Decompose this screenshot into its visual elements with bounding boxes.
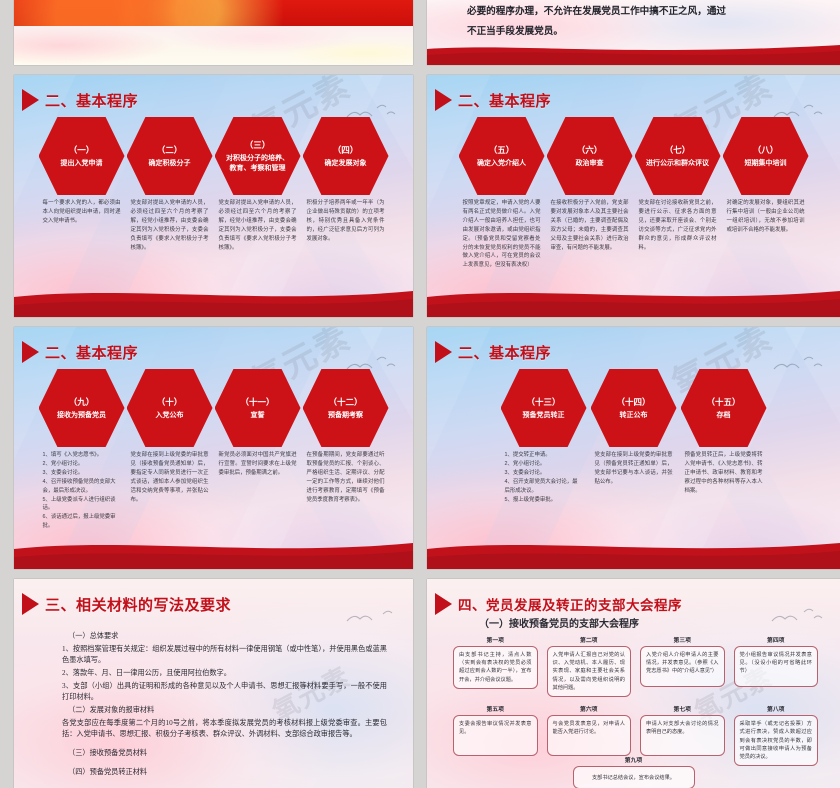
hex-step-body: 党支部在讨论接收新党员之前，要进行公示、征求各方面的意见，还要采取开座谈会、个别…: [635, 195, 721, 252]
hex-badge: （十二） 预备期考察: [303, 369, 389, 447]
hex-badge: （二） 确定积极分子: [127, 117, 213, 195]
footer-red-wave: [427, 287, 840, 317]
card-body: 与会党员发表意见，对申请人能否入党进行讨论。: [547, 715, 632, 756]
hex-step-body: 按照党章规定，申请入党的人要有两名正式党员做介绍人。入党介绍人一般由培养人担任，…: [459, 195, 545, 270]
hex-badge: （三） 对积极分子的培养、教育、考察和管理: [215, 117, 301, 195]
card-body: 党小组报告审议情况并发表意见。（没设小组的可省略此环节）: [734, 646, 819, 687]
card-cell[interactable]: 第二项 入党申请人汇报自己对党的认识、入党动机、本人履历、现实表现、家庭和主要社…: [547, 635, 632, 697]
slide-title: 三、相关材料的写法及要求: [45, 594, 231, 615]
hex-step-body: 新党员必须面对中国共产党旗进行宣誓。宣誓时间要求在上级党委审批后，预备期满之前。: [215, 447, 301, 478]
arrow-icon: [22, 593, 39, 615]
card-cell[interactable]: 第四项 党小组报告审议情况并发表意见。（没设小组的可省略此环节）: [734, 635, 819, 697]
hex-flow-row: （一） 提出入党申请 每一个要求入党的人，都必须由本人向党组织提出申请，同时递交…: [14, 117, 413, 252]
doc-line: （二）发展对象的报审材料: [62, 705, 387, 717]
hex-badge: （十） 入党公布: [127, 369, 213, 447]
continuation-text: 必要的程序办理，不允许在发展党员工作中搞不正之风，通过 不正当手段发展党员。: [467, 2, 806, 41]
hex-step-body: 党支部在接到上级党委的审批意见（接收预备党员通知单）后，要指定专人同新党员进行一…: [127, 447, 213, 504]
hex-step[interactable]: （十三） 预备党员转正 1、提交转正申请。 2、党小组讨论。 3、支委会讨论。 …: [501, 369, 587, 504]
card-label: 第四项: [734, 635, 819, 644]
hex-step-body: 积极分子培养两年或一年半（为企业做出特殊贡献的）的立项考核，特别优秀且具备入党条…: [303, 195, 389, 244]
slide-title: 二、基本程序: [458, 342, 551, 363]
hex-step[interactable]: （十五） 存档 预备党员转正后，上级党委将转入党申请书、《入党志愿书》、转正申请…: [681, 369, 767, 504]
hex-step[interactable]: （十一） 宣誓 新党员必须面对中国共产党旗进行宣誓。宣誓时间要求在上级党委审批后…: [215, 369, 301, 531]
footer-red-wave: [14, 287, 413, 317]
card-body: 入党申请人汇报自己对党的认识、入党动机、本人履历、现实表现、家庭和主要社会关系情…: [547, 646, 632, 697]
card-label: 第一项: [453, 635, 538, 644]
slide-header: 二、基本程序: [427, 341, 551, 363]
hex-badge: （六） 政治审查: [547, 117, 633, 195]
birds-icon: [770, 605, 826, 631]
card-cell[interactable]: 第一项 由支部书记主持，清点人数（实到会有表决权的党员必须超过应到会人数的一半）…: [453, 635, 538, 697]
hex-step-body: 对确定的发展对象，要组织其进行集中培训（一般由企业公司统一组织培训），无故不参加…: [723, 195, 809, 235]
slide-thumbnail-procedure-1[interactable]: 氧元素 二、基本程序 （一） 提出入党申请 每一个要求入党的人，都必须由本人向党…: [14, 75, 413, 317]
arrow-icon: [22, 341, 39, 363]
hex-step[interactable]: （四） 确定发展对象 积极分子培养两年或一年半（为企业做出特殊贡献的）的立项考核…: [303, 117, 389, 252]
hex-step-body: 党支部对提出入党申请的人员，必须经过四至六个月的考察了解，经党小组推荐，由支委会…: [215, 195, 301, 252]
hex-badge: （十三） 预备党员转正: [501, 369, 587, 447]
hex-step[interactable]: （五） 确定入党介绍人 按照党章规定，申请入党的人要有两名正式党员做介绍人。入党…: [459, 117, 545, 270]
slide-header: 二、基本程序: [427, 89, 551, 111]
slide-thumbnail-branch-meeting[interactable]: 氧元素 四、党员发展及转正的支部大会程序 （一）接收预备党员的支部大会程序 第一…: [427, 579, 840, 788]
slide-thumbnail-text-continuation[interactable]: 必要的程序办理，不允许在发展党员工作中搞不正之风，通过 不正当手段发展党员。: [427, 0, 840, 65]
hex-badge: （七） 进行公示和群众评议: [635, 117, 721, 195]
arrow-icon: [435, 341, 452, 363]
hex-badge: （四） 确定发展对象: [303, 117, 389, 195]
slide-header: 四、党员发展及转正的支部大会程序: [427, 593, 682, 615]
slide-thumbnail-procedure-4[interactable]: 氧元素 二、基本程序 （十三） 预备党员转正 1、提交转正申请。 2、党小组讨论…: [427, 327, 840, 569]
card-label: 第五项: [453, 704, 538, 713]
footer-red-wave: [14, 539, 413, 569]
hex-step[interactable]: （六） 政治审查 在接收积极分子入党前，党支部要对发展对象本人及其主要社会关系（…: [547, 117, 633, 270]
slide-title: 二、基本程序: [45, 90, 138, 111]
hex-step[interactable]: （七） 进行公示和群众评议 党支部在讨论接收新党员之前，要进行公示、征求各方面的…: [635, 117, 721, 270]
hex-step[interactable]: （一） 提出入党申请 每一个要求入党的人，都必须由本人向党组织提出申请，同时递交…: [39, 117, 125, 252]
doc-line: 各党支部应在每季度第二个月的10号之前，将本季度拟发展党员的考核材料报上级党委审…: [62, 718, 387, 741]
birds-icon: [343, 605, 399, 631]
slide-thumbnail-materials[interactable]: 氧元素 三、相关材料的写法及要求 （一）总体要求 1、按照档案管理有关规定：组织…: [14, 579, 413, 788]
footer-red-wave: [427, 539, 840, 569]
doc-line: （三）接收预备党员材料: [62, 748, 387, 760]
slide-header: 二、基本程序: [14, 89, 138, 111]
doc-line: （四）预备党员转正材料: [62, 767, 387, 779]
slide-title: 四、党员发展及转正的支部大会程序: [458, 594, 682, 614]
hex-step-body: 党支部对提出入党申请的人员，必须经过四至六个月的考察了解，经党小组推荐，由支委会…: [127, 195, 213, 252]
card-body: 入党介绍人介绍申请人的主要情况，并发表意见。（参照《入党志愿书》中的"介绍人意见…: [640, 646, 725, 687]
hex-step[interactable]: （十四） 转正公布 党支部在接到上级党委的审批意见（预备党员转正通知单）后，党支…: [591, 369, 677, 504]
hex-step[interactable]: （三） 对积极分子的培养、教育、考察和管理 党支部对提出入党申请的人员，必须经过…: [215, 117, 301, 252]
hex-flow-row: （十三） 预备党员转正 1、提交转正申请。 2、党小组讨论。 3、支委会讨论。 …: [427, 369, 840, 504]
doc-line: 2、落款年、月、日一律用公历，且使用阿拉伯数字。: [62, 668, 387, 680]
card-body[interactable]: 支部书记总结会议，宣布会议结果。: [573, 766, 695, 788]
hex-step-body: 预备党员转正后，上级党委将转入党申请书、《入党志愿书》、转正申请书、政审材料、教…: [681, 447, 767, 496]
card-label: 第七项: [640, 704, 725, 713]
card-body: 申请人对支部大会讨论的情况表明自己的态度。: [640, 715, 725, 756]
slide-thumbnail-grid: 必要的程序办理，不允许在发展党员工作中搞不正之风，通过 不正当手段发展党员。 氧…: [0, 0, 840, 788]
card-label: 第六项: [547, 704, 632, 713]
hex-step[interactable]: （八） 短期集中培训 对确定的发展对象，要组织其进行集中培训（一般由企业公司统一…: [723, 117, 809, 270]
card-label: 第三项: [640, 635, 725, 644]
footer-red-bar: [427, 43, 840, 65]
hex-step-body: 在接收积极分子入党前，党支部要对发展对象本人及其主要社会关系（已婚的，主要调查配…: [547, 195, 633, 252]
arrow-icon: [435, 89, 452, 111]
hex-badge: （十一） 宣誓: [215, 369, 301, 447]
hex-badge: （十四） 转正公布: [591, 369, 677, 447]
doc-line: 1、按照档案管理有关规定：组织发展过程中的所有材料一律使用钢笔（或中性笔），并使…: [62, 644, 387, 667]
card-label: 第八项: [734, 704, 819, 713]
hex-step-body: 每一个要求入党的人，都必须由本人向党组织提出申请，同时递交入党申请书。: [39, 195, 125, 226]
hex-badge: （九） 接收为预备党员: [39, 369, 125, 447]
hex-badge: （十五） 存档: [681, 369, 767, 447]
hex-badge: （五） 确定入党介绍人: [459, 117, 545, 195]
slide-thumbnail-procedure-2[interactable]: 氧元素 二、基本程序 （五） 确定入党介绍人 按照党章规定，申请入党的人要有两名…: [427, 75, 840, 317]
hex-step-body: 党支部在接到上级党委的审批意见（预备党员转正通知单）后，党支部书记要与本人谈话，…: [591, 447, 677, 487]
arrow-icon: [435, 593, 452, 615]
card-body: 支委会报告审议情况并发表意见。: [453, 715, 538, 756]
hex-step-body: 在预备期期间，党支部要通过听取预备党员的汇报、个别谈心、严格组织生活、定期评议、…: [303, 447, 389, 504]
hex-flow-row: （五） 确定入党介绍人 按照党章规定，申请入党的人要有两名正式党员做介绍人。入党…: [427, 117, 840, 270]
hex-step[interactable]: （九） 接收为预备党员 1、填写《入党志愿书》。 2、党小组讨论。 3、支委会讨…: [39, 369, 125, 531]
slide-subtitle: （一）接收预备党员的支部大会程序: [479, 615, 639, 630]
slide-title: 二、基本程序: [45, 342, 138, 363]
slide-header: 三、相关材料的写法及要求: [14, 593, 231, 615]
card-cell[interactable]: 第三项 入党介绍人介绍申请人的主要情况，并发表意见。（参照《入党志愿书》中的"介…: [640, 635, 725, 697]
slide-title: 二、基本程序: [458, 90, 551, 111]
hex-badge: （八） 短期集中培训: [723, 117, 809, 195]
hex-step-body: 1、填写《入党志愿书》。 2、党小组讨论。 3、支委会讨论。 4、召开接收预备党…: [39, 447, 125, 531]
hex-flow-row: （九） 接收为预备党员 1、填写《入党志愿书》。 2、党小组讨论。 3、支委会讨…: [14, 369, 413, 531]
doc-line: 3、支部（小组）出具的证明和形成的各种意见以及个人申请书、思想汇报等材料要手写，…: [62, 681, 387, 704]
card-body: 由支部书记主持，清点人数（实到会有表决权的党员必须超过应到会人数的一半），宣布开…: [453, 646, 538, 689]
doc-line: （一）总体要求: [62, 631, 387, 643]
materials-document: （一）总体要求 1、按照档案管理有关规定：组织发展过程中的所有材料一律使用钢笔（…: [62, 631, 387, 779]
final-card-wrapper: 第九项 支部书记总结会议，宣布会议结果。: [427, 755, 840, 788]
slide-thumbnail-procedure-3[interactable]: 氧元素 二、基本程序 （九） 接收为预备党员 1、填写《入党志愿书》。 2、党小…: [14, 327, 413, 569]
hex-step[interactable]: （二） 确定积极分子 党支部对提出入党申请的人员，必须经过四至六个月的考察了解，…: [127, 117, 213, 252]
slide-background: [14, 0, 413, 65]
hex-step[interactable]: （十二） 预备期考察 在预备期期间，党支部要通过听取预备党员的汇报、个别谈心、严…: [303, 369, 389, 531]
arrow-icon: [22, 89, 39, 111]
slide-thumbnail-cover-fragment[interactable]: [14, 0, 413, 65]
slide-header: 二、基本程序: [14, 341, 138, 363]
procedure-card-grid: 第一项 由支部书记主持，清点人数（实到会有表决权的党员必须超过应到会人数的一半）…: [453, 635, 818, 766]
hex-badge: （一） 提出入党申请: [39, 117, 125, 195]
card-label: 第九项: [625, 755, 642, 764]
hex-step-body: 1、提交转正申请。 2、党小组讨论。 3、支委会讨论。 4、召开支部党员大会讨论…: [501, 447, 587, 504]
card-label: 第二项: [547, 635, 632, 644]
hex-step[interactable]: （十） 入党公布 党支部在接到上级党委的审批意见（接收预备党员通知单）后，要指定…: [127, 369, 213, 531]
